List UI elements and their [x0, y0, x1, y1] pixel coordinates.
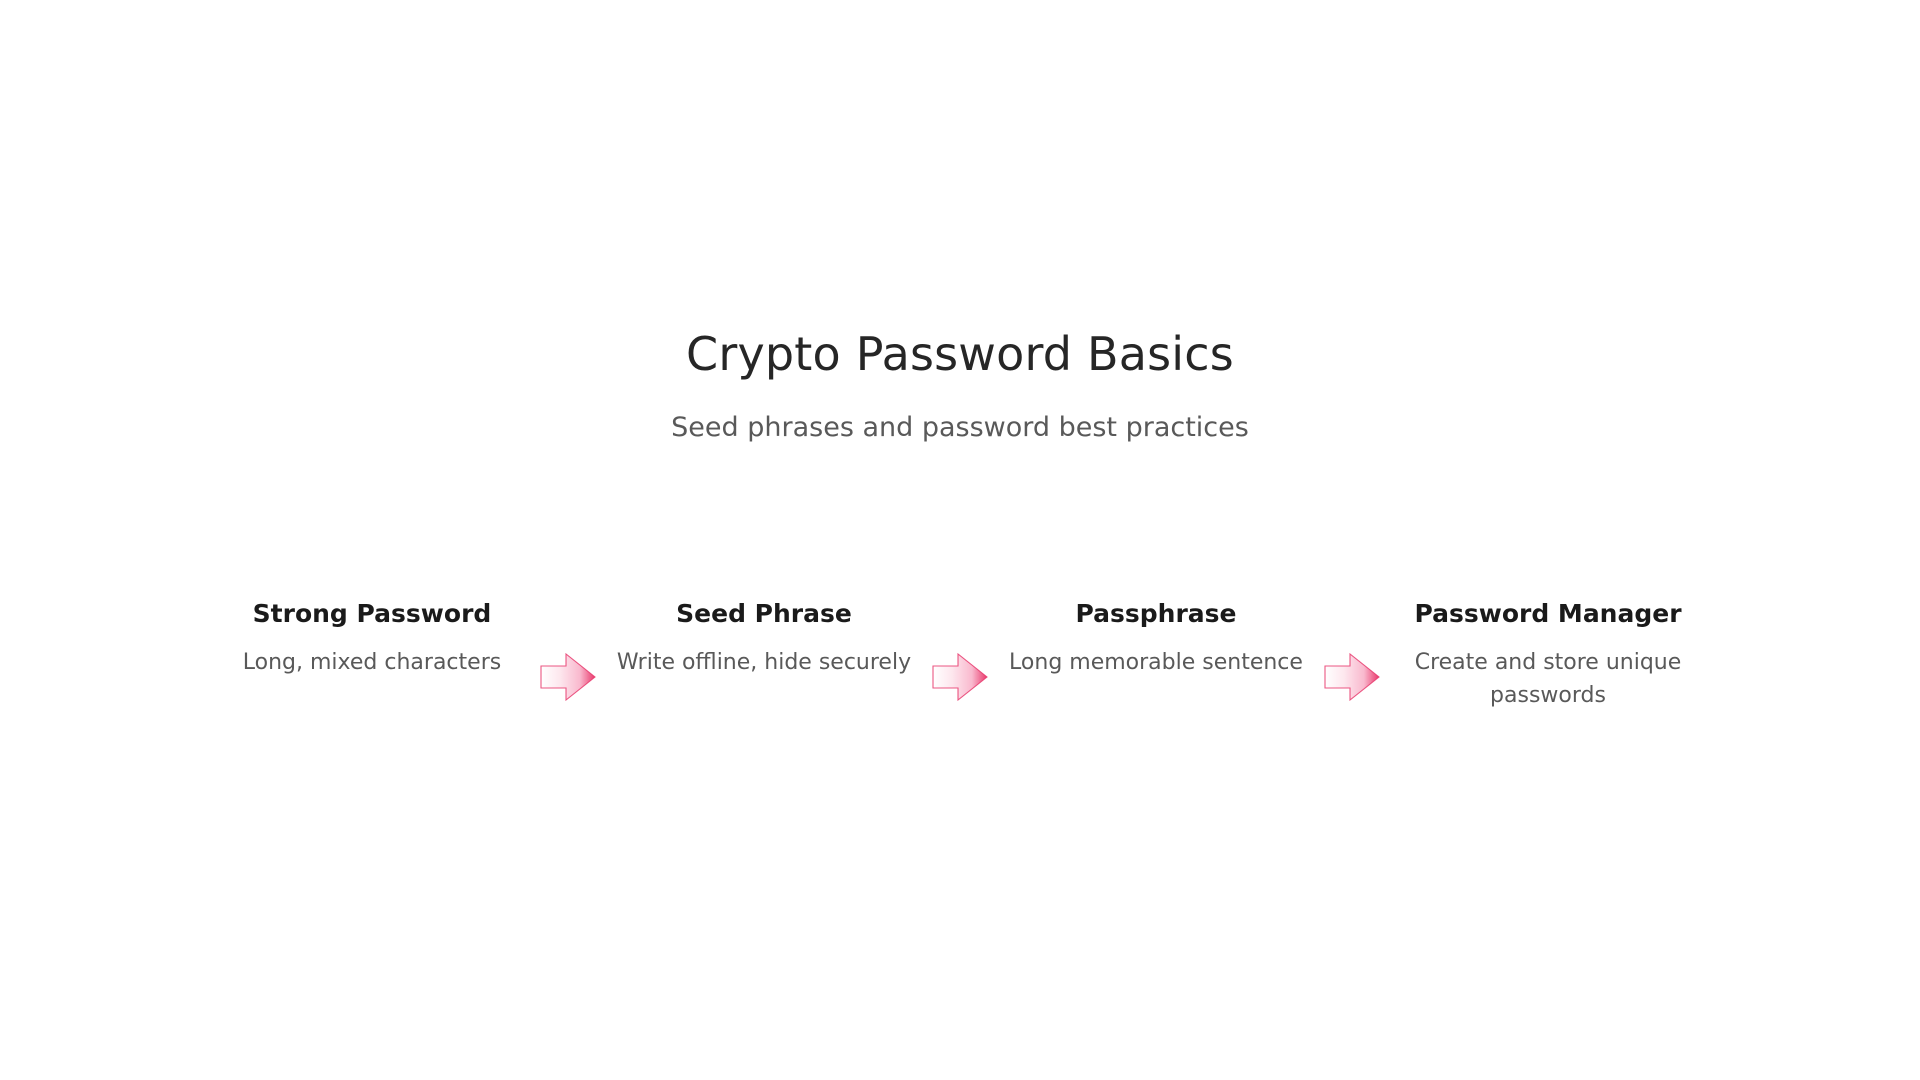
process-step-2-title: Seed Phrase — [603, 600, 925, 629]
right-chevron-arrow-icon — [1324, 652, 1380, 702]
process-step-2-description: Write offline, hide securely — [603, 629, 925, 679]
process-step-2[interactable]: Seed Phrase Write offline, hide securely — [599, 600, 929, 679]
process-step-3[interactable]: Passphrase Long memorable sentence — [991, 600, 1321, 679]
process-step-3-description: Long memorable sentence — [995, 629, 1317, 679]
process-step-3-title: Passphrase — [995, 600, 1317, 629]
page-title: Crypto Password Basics — [0, 330, 1920, 378]
slide-header: Crypto Password Basics Seed phrases and … — [0, 330, 1920, 445]
process-step-4[interactable]: Password Manager Create and store unique… — [1383, 600, 1713, 712]
process-arrow-1 — [537, 600, 599, 702]
page-subtitle: Seed phrases and password best practices — [0, 378, 1920, 444]
process-step-4-description: Create and store unique passwords — [1387, 629, 1709, 712]
process-step-1[interactable]: Strong Password Long, mixed characters — [207, 600, 537, 679]
process-arrow-2 — [929, 600, 991, 702]
right-chevron-arrow-icon — [932, 652, 988, 702]
process-step-1-title: Strong Password — [211, 600, 533, 629]
process-step-4-title: Password Manager — [1387, 600, 1709, 629]
slide-canvas: Crypto Password Basics Seed phrases and … — [0, 0, 1920, 1080]
process-step-1-description: Long, mixed characters — [211, 629, 533, 679]
process-arrow-3 — [1321, 600, 1383, 702]
process-flow: Strong Password Long, mixed characters S… — [140, 600, 1780, 712]
right-chevron-arrow-icon — [540, 652, 596, 702]
